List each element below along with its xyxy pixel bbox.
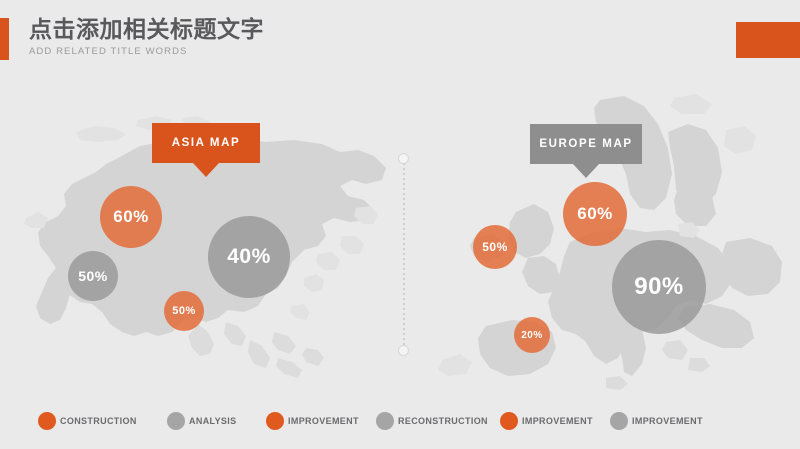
asia-callout-label: ASIA MAP (172, 137, 241, 149)
legend-item-improvement-3[interactable]: IMPROVEMENT (610, 412, 703, 430)
asia-map-callout[interactable]: ASIA MAP (152, 123, 260, 163)
legend-item-reconstruction[interactable]: RECONSTRUCTION (376, 412, 488, 430)
asia-bubble-50-south[interactable]: 50% (164, 291, 204, 331)
divider-top-circle-icon (398, 153, 409, 164)
header-corner-block (736, 22, 800, 58)
callout-pointer-icon (573, 164, 599, 178)
asia-bubble-40[interactable]: 40% (208, 216, 290, 298)
callout-pointer-icon (193, 163, 219, 177)
legend-item-label: IMPROVEMENT (632, 416, 703, 426)
legend-dot-icon (38, 412, 56, 430)
europe-bubble-20[interactable]: 20% (514, 317, 550, 353)
legend-item-label: IMPROVEMENT (522, 416, 593, 426)
legend-dot-icon (376, 412, 394, 430)
legend-dot-icon (500, 412, 518, 430)
legend-item-improvement-1[interactable]: IMPROVEMENT (266, 412, 359, 430)
legend: CONSTRUCTION ANALYSIS IMPROVEMENT RECONS… (38, 408, 768, 436)
asia-bubble-60[interactable]: 60% (100, 186, 162, 248)
europe-bubble-90[interactable]: 90% (612, 240, 706, 334)
legend-item-improvement-2[interactable]: IMPROVEMENT (500, 412, 593, 430)
legend-item-label: CONSTRUCTION (60, 416, 137, 426)
legend-dot-icon (167, 412, 185, 430)
slide-canvas: 点击添加相关标题文字 ADD RELATED TITLE WORDS (0, 0, 800, 449)
divider-bottom-circle-icon (398, 345, 409, 356)
europe-bubble-60[interactable]: 60% (563, 182, 627, 246)
asia-bubble-50-west[interactable]: 50% (68, 251, 118, 301)
header-accent-bar (0, 18, 9, 60)
page-subtitle: ADD RELATED TITLE WORDS (29, 45, 264, 58)
legend-item-label: RECONSTRUCTION (398, 416, 488, 426)
legend-dot-icon (266, 412, 284, 430)
page-title: 点击添加相关标题文字 (29, 14, 264, 44)
europe-map-callout[interactable]: EUROPE MAP (530, 124, 642, 164)
europe-callout-label: EUROPE MAP (539, 138, 632, 150)
legend-item-analysis[interactable]: ANALYSIS (167, 412, 236, 430)
europe-bubble-50[interactable]: 50% (473, 225, 517, 269)
header-text-block: 点击添加相关标题文字 ADD RELATED TITLE WORDS (29, 14, 264, 58)
center-dotted-divider (403, 158, 405, 348)
legend-item-construction[interactable]: CONSTRUCTION (38, 412, 137, 430)
legend-dot-icon (610, 412, 628, 430)
legend-item-label: IMPROVEMENT (288, 416, 359, 426)
legend-item-label: ANALYSIS (189, 416, 236, 426)
